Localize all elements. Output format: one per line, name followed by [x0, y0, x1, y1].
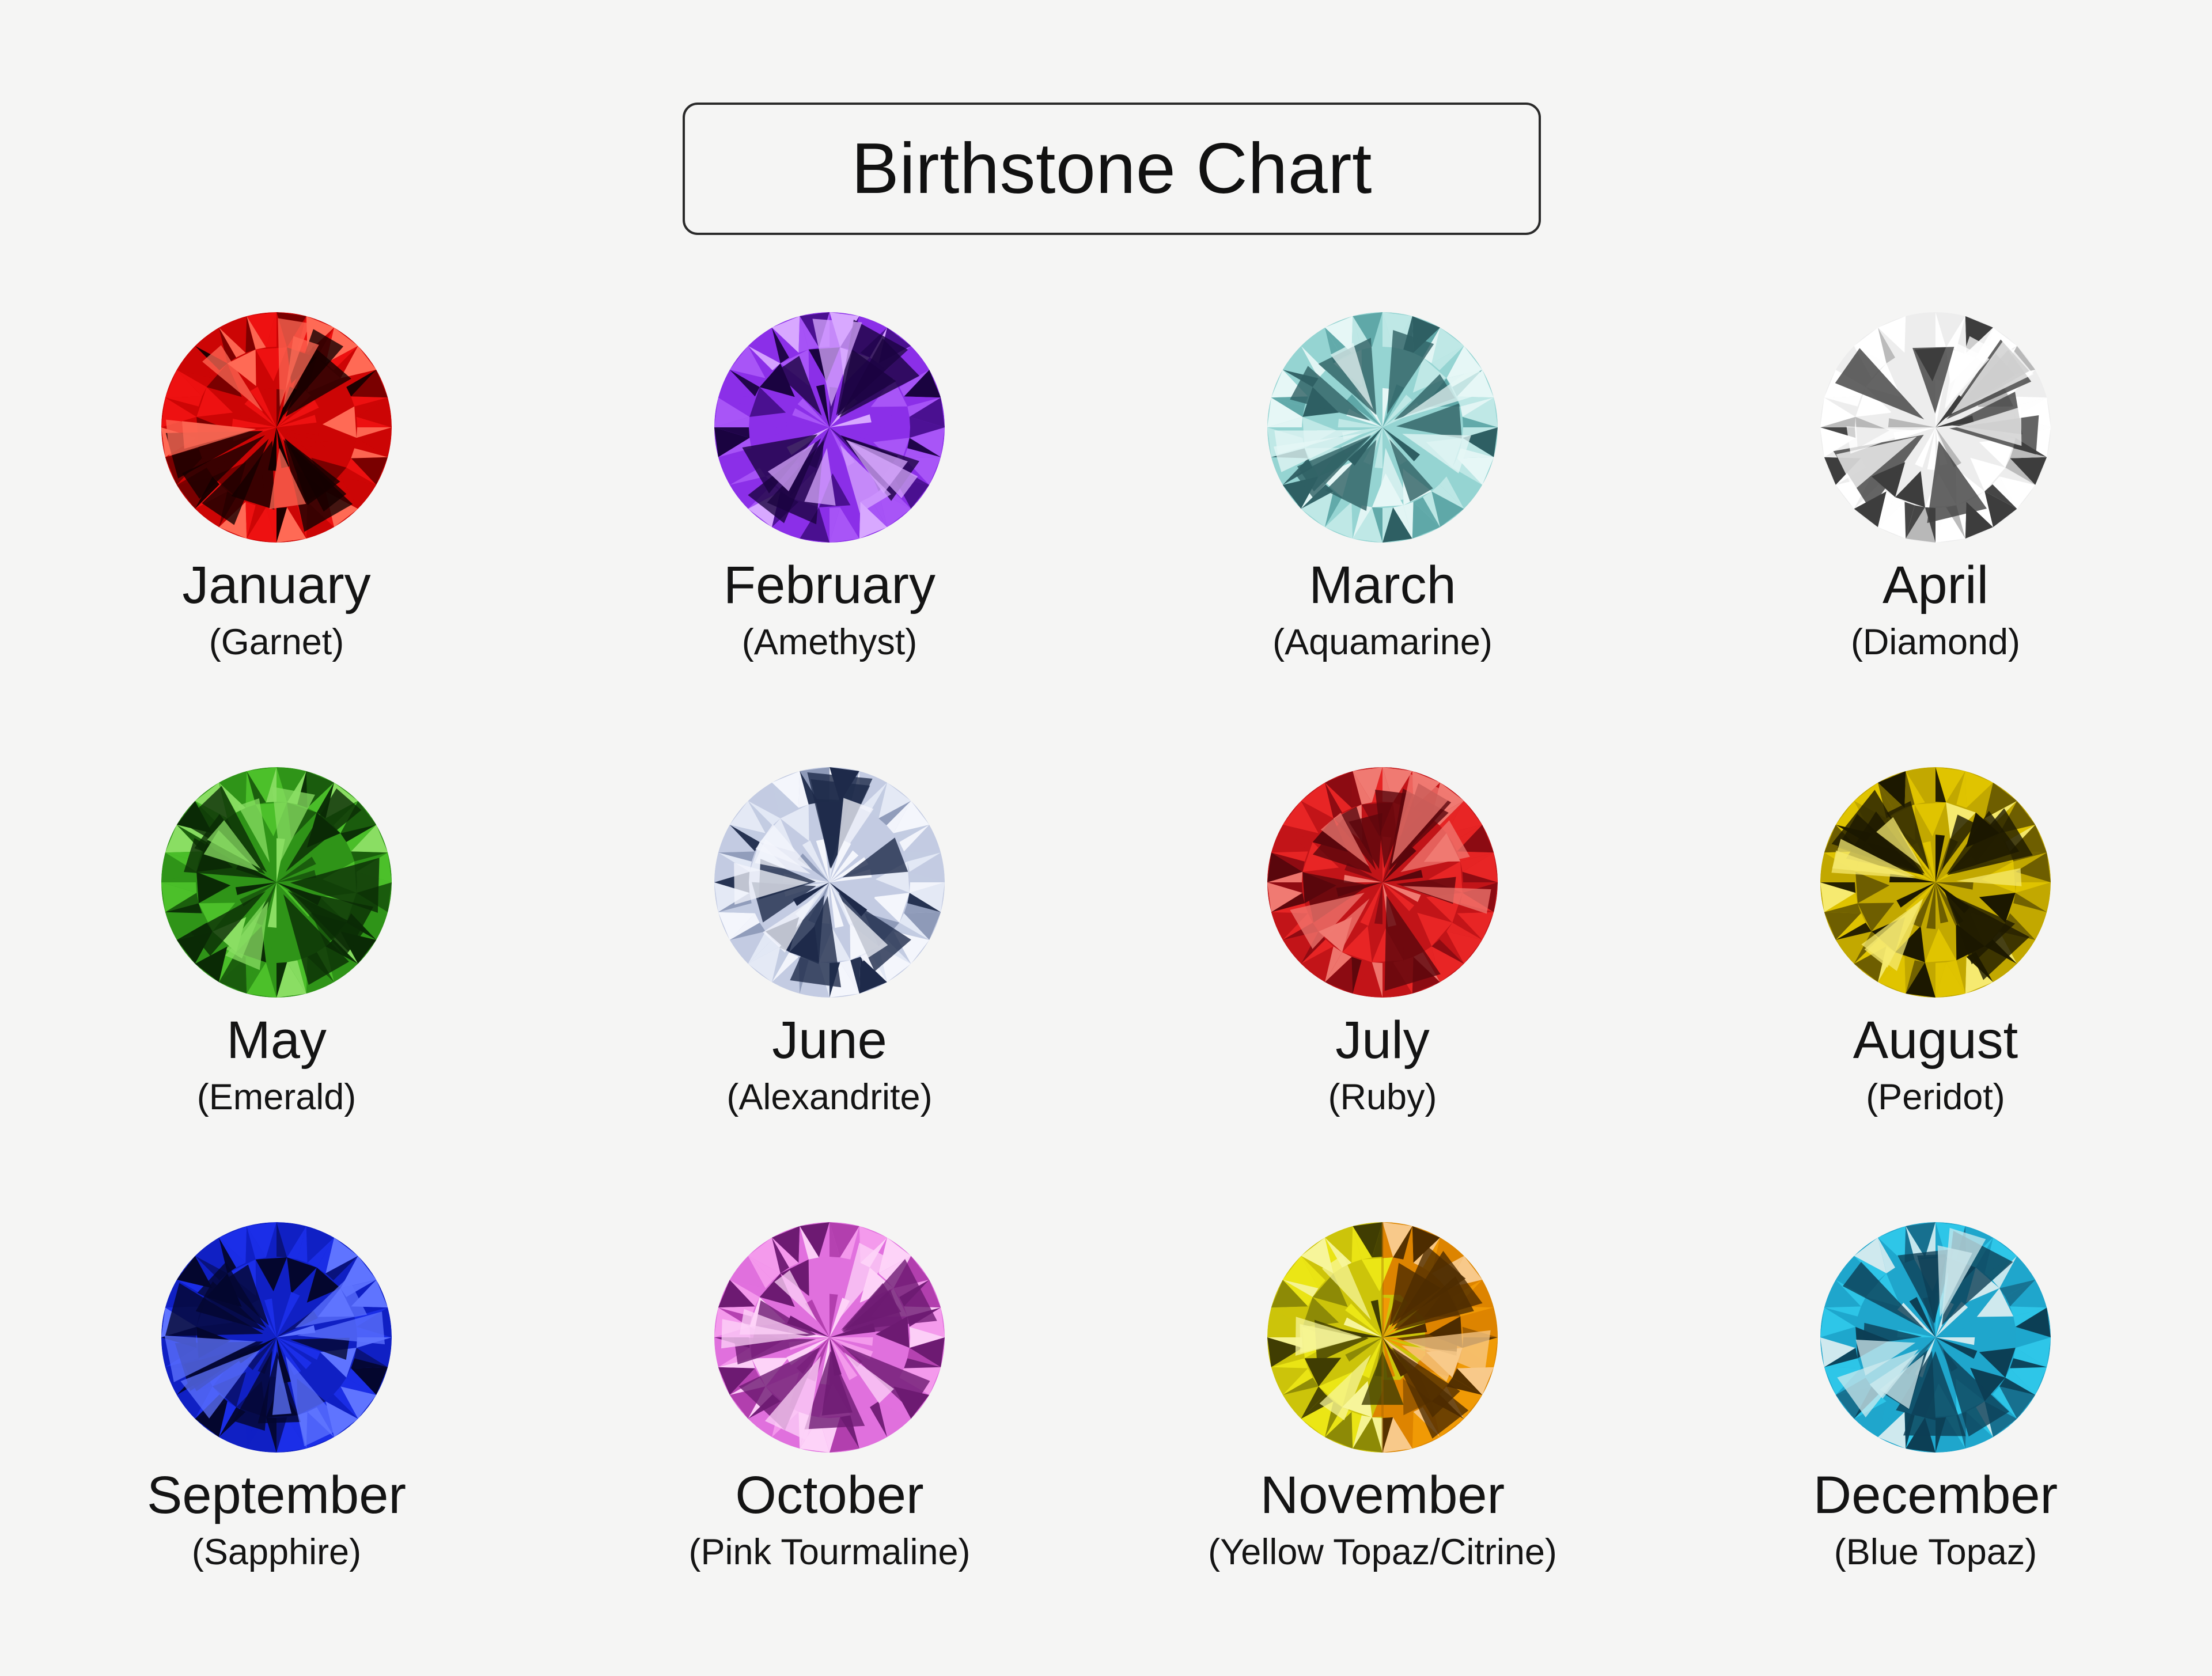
round-brilliant-gem-icon: [713, 311, 946, 544]
round-brilliant-gem-icon: [1819, 311, 2052, 544]
stone-name-label: (Garnet): [209, 624, 344, 661]
stone-name-label: (Aquamarine): [1272, 624, 1493, 661]
round-brilliant-gem-icon: [1819, 766, 2052, 999]
birthstone-cell: September(Sapphire): [0, 1221, 553, 1676]
month-label: June: [772, 1014, 887, 1067]
month-label: July: [1335, 1014, 1430, 1067]
stone-name-label: (Ruby): [1328, 1079, 1437, 1116]
stone-name-label: (Blue Topaz): [1834, 1534, 2037, 1571]
month-label: January: [182, 559, 370, 612]
birthstone-cell: December(Blue Topaz): [1659, 1221, 2212, 1676]
stone-name-label: (Pink Tourmaline): [688, 1534, 970, 1571]
page-title: Birthstone Chart: [851, 133, 1372, 204]
month-label: November: [1260, 1469, 1505, 1522]
round-brilliant-gem-icon: [1266, 311, 1499, 544]
round-brilliant-gem-split-icon: [1266, 1221, 1499, 1454]
round-brilliant-gem-icon: [713, 766, 946, 999]
chart-title-frame: Birthstone Chart: [683, 103, 1541, 235]
round-brilliant-gem-icon: [1266, 766, 1499, 999]
birthstone-cell: June(Alexandrite): [553, 766, 1106, 1221]
round-brilliant-gem-icon: [713, 1221, 946, 1454]
birthstone-cell: October(Pink Tourmaline): [553, 1221, 1106, 1676]
round-brilliant-gem-icon: [160, 311, 393, 544]
month-label: March: [1309, 559, 1456, 612]
birthstone-cell: July(Ruby): [1106, 766, 1659, 1221]
month-label: May: [226, 1014, 327, 1067]
birthstone-cell: January(Garnet): [0, 311, 553, 766]
stone-name-label: (Emerald): [197, 1079, 357, 1116]
round-brilliant-gem-icon: [160, 766, 393, 999]
round-brilliant-gem-icon: [160, 1221, 393, 1454]
birthstone-cell: November(Yellow Topaz/Citrine): [1106, 1221, 1659, 1676]
stone-name-label: (Diamond): [1851, 624, 2020, 661]
month-label: April: [1883, 559, 1988, 612]
birthstone-grid: January(Garnet) February(Amethyst) March…: [0, 311, 2212, 1676]
stone-name-label: (Amethyst): [742, 624, 918, 661]
stone-name-label: (Peridot): [1866, 1079, 2005, 1116]
stone-name-label: (Yellow Topaz/Citrine): [1208, 1534, 1557, 1571]
birthstone-cell: May(Emerald): [0, 766, 553, 1221]
stone-name-label: (Sapphire): [192, 1534, 361, 1571]
month-label: October: [735, 1469, 923, 1522]
birthstone-cell: February(Amethyst): [553, 311, 1106, 766]
birthstone-cell: August(Peridot): [1659, 766, 2212, 1221]
round-brilliant-gem-icon: [1819, 1221, 2052, 1454]
birthstone-cell: April(Diamond): [1659, 311, 2212, 766]
month-label: December: [1813, 1469, 2058, 1522]
birthstone-cell: March(Aquamarine): [1106, 311, 1659, 766]
stone-name-label: (Alexandrite): [726, 1079, 932, 1116]
month-label: September: [147, 1469, 406, 1522]
month-label: February: [724, 559, 935, 612]
month-label: August: [1853, 1014, 2018, 1067]
